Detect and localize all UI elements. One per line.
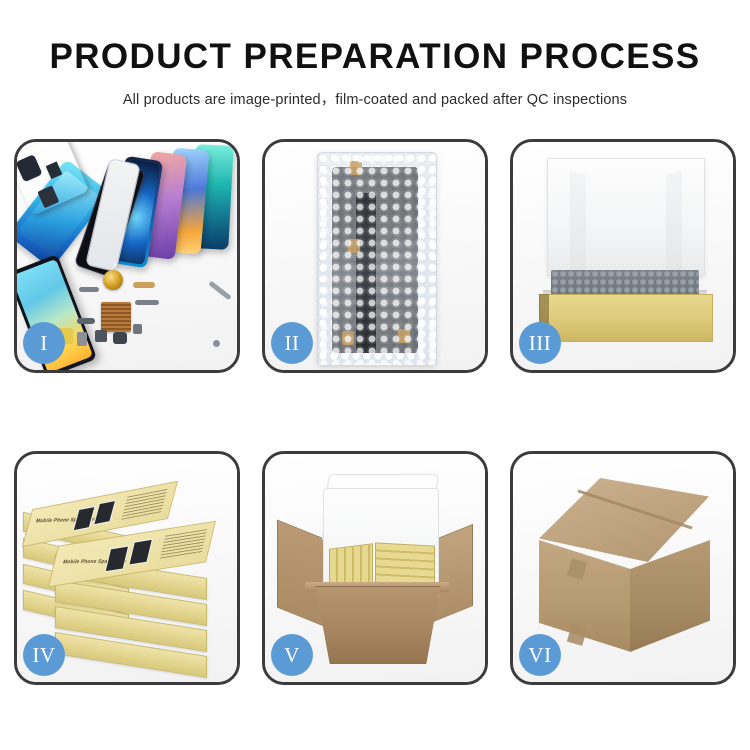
tape-bottom-left-icon <box>342 331 354 345</box>
tape-mid-icon <box>348 239 360 253</box>
screen-flex-strip-icon <box>356 193 376 353</box>
process-step-panel-6[interactable]: VI <box>510 451 736 685</box>
step-badge-6: VI <box>519 634 561 676</box>
lid-flap-right-icon <box>666 171 682 282</box>
process-step-panel-5[interactable]: V <box>262 451 488 685</box>
logic-board-chip-icon <box>101 302 131 332</box>
camera-module-icon <box>95 330 107 342</box>
tape-top-icon <box>350 161 362 175</box>
bubble-wrap-bag-icon <box>317 152 437 366</box>
process-step-panel-4[interactable]: Mobile Phone Spare Parts Mobile Phone Sp… <box>14 451 240 685</box>
carton-tape-lower <box>567 624 587 646</box>
page-subtitle: All products are image-printed，film-coat… <box>0 88 750 109</box>
step-badge-2: II <box>271 322 313 364</box>
button-part-icon <box>77 318 95 324</box>
box-spec-lines-front <box>159 529 207 561</box>
connector-icon <box>133 282 155 288</box>
step-badge-3: III <box>519 322 561 364</box>
screw-icon <box>213 340 220 347</box>
process-step-panel-1[interactable]: I <box>14 139 240 373</box>
process-step-grid: I II III <box>14 139 736 685</box>
step-badge-1: I <box>23 322 65 364</box>
page-header: PRODUCT PREPARATION PROCESS All products… <box>0 0 750 109</box>
carton-body-icon <box>307 586 449 664</box>
box-spec-lines-rear <box>121 489 167 520</box>
box-phone-image-4 <box>128 539 153 566</box>
sim-tray-icon <box>77 332 87 346</box>
foam-lid-icon <box>547 158 705 276</box>
box-phone-image-3 <box>105 545 130 572</box>
flex-cable-icon <box>79 287 99 292</box>
page-title: PRODUCT PREPARATION PROCESS <box>0 38 750 77</box>
vibration-motor-icon <box>103 270 123 290</box>
step-badge-4: IV <box>23 634 65 676</box>
screw-set-icon <box>133 324 142 334</box>
antenna-cable-icon <box>135 300 159 305</box>
process-step-panel-2[interactable]: II <box>262 139 488 373</box>
speaker-icon <box>113 332 127 344</box>
process-step-panel-3[interactable]: III <box>510 139 736 373</box>
kraft-inner-box-icon <box>539 294 713 342</box>
tape-bottom-right-icon <box>398 329 410 343</box>
screwdriver-icon <box>208 281 232 301</box>
step-badge-5: V <box>271 634 313 676</box>
lid-flap-left-icon <box>570 171 586 282</box>
box-phone-image-2 <box>93 500 116 525</box>
kraft-boxes-group-right <box>375 542 435 587</box>
